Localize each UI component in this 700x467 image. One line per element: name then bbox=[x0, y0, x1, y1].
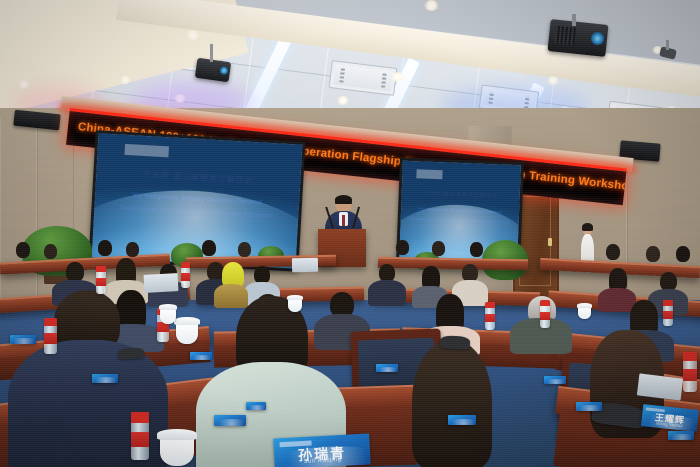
projector-lens-icon bbox=[220, 66, 229, 75]
tea-cup[interactable] bbox=[160, 308, 176, 324]
nameplate-small bbox=[214, 415, 246, 426]
attendee-head bbox=[98, 240, 112, 256]
nameplate-small bbox=[190, 352, 212, 360]
interpretation-headset[interactable] bbox=[440, 335, 471, 350]
projector-mount bbox=[572, 14, 576, 26]
tea-cup-lid bbox=[577, 303, 592, 307]
bottle-label bbox=[44, 333, 57, 344]
laptop[interactable] bbox=[292, 258, 318, 272]
attendee-head bbox=[44, 244, 57, 259]
slide-name-en-1: YU Yongming, Deputy Director-General bbox=[95, 189, 299, 210]
tea-cup[interactable] bbox=[578, 306, 591, 319]
interpretation-headset[interactable] bbox=[118, 347, 145, 360]
slide-name-en-2: Department of Education of Zhejiang Prov… bbox=[401, 216, 519, 227]
bottle-cap bbox=[44, 318, 57, 326]
attendee-head bbox=[606, 244, 620, 260]
slide-logo bbox=[124, 144, 169, 158]
downlight bbox=[18, 80, 30, 89]
bottle-label bbox=[663, 311, 673, 319]
bottle-cap bbox=[96, 266, 106, 272]
attendee-head bbox=[126, 242, 139, 257]
bottle-label bbox=[485, 314, 495, 322]
bottle-label bbox=[540, 312, 550, 320]
attendee-head bbox=[396, 240, 409, 255]
water-bottle[interactable] bbox=[131, 412, 149, 460]
attendee-torso bbox=[368, 280, 406, 306]
projector-lens-icon bbox=[590, 31, 604, 45]
bottle-cap bbox=[131, 412, 149, 423]
bottle-cap bbox=[683, 352, 697, 361]
tea-cup-lid bbox=[159, 304, 178, 309]
slide-name-en-1: YU Yongming, Deputy Director-General bbox=[401, 206, 519, 217]
downlight bbox=[547, 76, 559, 85]
nameplate-small bbox=[10, 335, 36, 344]
attendee-head bbox=[66, 262, 84, 282]
water-bottle[interactable] bbox=[96, 266, 106, 294]
camera-mount bbox=[666, 40, 669, 50]
water-bottle[interactable] bbox=[540, 300, 550, 328]
attendee-head bbox=[646, 246, 660, 262]
tea-cup-lid bbox=[174, 317, 200, 324]
slide-name-cn: 于永明 浙江省教育厅副厅长 bbox=[402, 189, 520, 201]
attendee-head bbox=[432, 241, 445, 256]
nameplate-small bbox=[668, 431, 694, 440]
speaker-tie bbox=[342, 215, 345, 226]
bottle-cap bbox=[485, 302, 495, 308]
downlight bbox=[424, 0, 439, 11]
bottle-label bbox=[181, 273, 190, 281]
water-bottle[interactable] bbox=[181, 262, 190, 288]
nameplate-front-center: 孙瑞青 Sun Ruiqing bbox=[273, 434, 370, 467]
attendee-head bbox=[202, 240, 216, 256]
bottle-cap bbox=[540, 300, 550, 306]
projector-mount bbox=[210, 44, 213, 62]
laptop[interactable] bbox=[144, 273, 179, 293]
downlight bbox=[186, 30, 200, 40]
ceiling-projector bbox=[547, 19, 608, 57]
nameplate-small bbox=[376, 364, 398, 372]
foreground-attendee-right-edge bbox=[590, 330, 700, 467]
tea-cup[interactable] bbox=[288, 298, 302, 312]
nameplate-small bbox=[92, 374, 118, 383]
attendee-head bbox=[676, 246, 690, 262]
projector-vent bbox=[554, 26, 576, 46]
nameplate-small bbox=[448, 415, 476, 425]
slide-logo bbox=[416, 169, 442, 179]
tea-cup[interactable] bbox=[176, 322, 198, 344]
bottle-label bbox=[683, 369, 697, 381]
water-bottle[interactable] bbox=[44, 318, 57, 354]
downlight bbox=[337, 96, 349, 105]
water-bottle[interactable] bbox=[683, 352, 697, 392]
slide-name-cn: 于永明 浙江省教育厅副厅长 bbox=[96, 167, 300, 189]
foreground-attendee-far-right bbox=[382, 340, 522, 467]
attendee-head bbox=[470, 242, 483, 257]
downlight bbox=[120, 76, 131, 84]
bottle-label bbox=[96, 278, 106, 286]
tea-cup-lid bbox=[157, 429, 196, 439]
tea-cup[interactable] bbox=[160, 436, 194, 466]
speaker-hair bbox=[335, 195, 352, 204]
water-bottle[interactable] bbox=[485, 302, 495, 330]
attendee-head bbox=[238, 242, 251, 257]
tea-cup-lid bbox=[287, 295, 303, 300]
water-bottle[interactable] bbox=[663, 300, 673, 326]
conference-hall-photo: China-ASEAN 100+100 Institutional Cooper… bbox=[0, 0, 700, 467]
nameplate-small bbox=[576, 402, 602, 411]
attendant-hair bbox=[582, 223, 593, 231]
nameplate-small bbox=[246, 402, 266, 410]
slide-name-en-2: Department of Education of Zhejiang Prov… bbox=[94, 203, 298, 224]
nameplate-small bbox=[544, 376, 566, 384]
attendee bbox=[368, 264, 406, 304]
attendee-hair bbox=[412, 340, 492, 467]
bottle-cap bbox=[181, 262, 190, 268]
attendee-head bbox=[16, 242, 30, 258]
bottle-cap bbox=[663, 300, 673, 306]
downlight bbox=[391, 72, 404, 82]
bottle-label bbox=[131, 432, 149, 446]
